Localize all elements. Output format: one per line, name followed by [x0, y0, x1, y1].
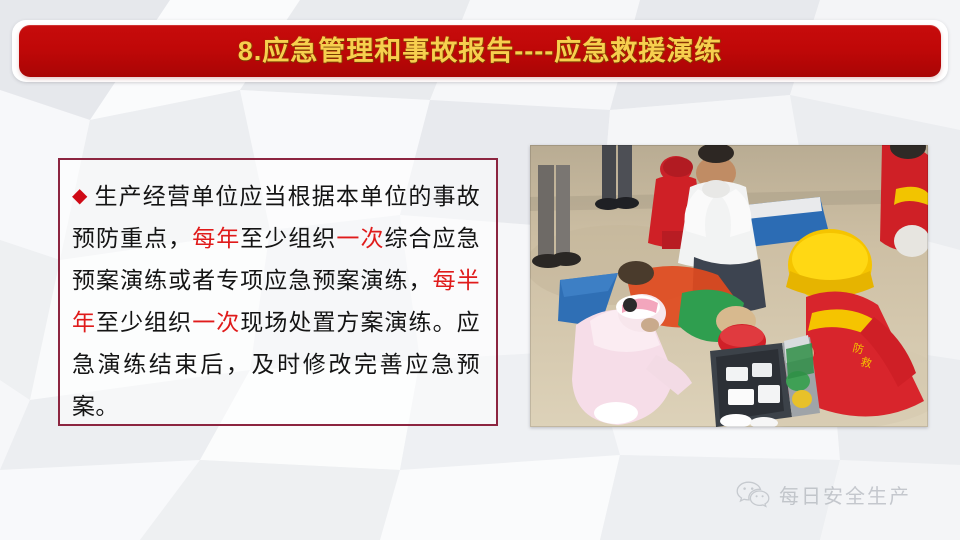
para-segment-1-highlight: 每年	[192, 226, 240, 252]
title-banner: 8.应急管理和事故报告----应急救援演练	[19, 25, 941, 77]
watermark-text: 每日安全生产	[779, 480, 911, 509]
photo-illustration: 防 救	[530, 145, 928, 427]
slide-root: 8.应急管理和事故报告----应急救援演练 ◆生产经营单位应当根据本单位的事故预…	[0, 0, 960, 540]
para-segment-3-highlight: 一次	[336, 226, 384, 252]
page-title: 8.应急管理和事故报告----应急救援演练	[238, 38, 722, 65]
emergency-drill-photo: 防 救	[530, 145, 928, 427]
wechat-icon	[736, 481, 770, 509]
para-segment-2: 至少组织	[240, 226, 336, 252]
para-segment-7-highlight: 一次	[192, 310, 240, 336]
diamond-bullet-icon: ◆	[72, 183, 89, 207]
watermark: 每日安全生产	[736, 480, 911, 509]
bullet-paragraph: ◆生产经营单位应当根据本单位的事故预防重点，每年至少组织一次综合应急预案演练或者…	[72, 174, 480, 428]
content-text-box: ◆生产经营单位应当根据本单位的事故预防重点，每年至少组织一次综合应急预案演练或者…	[58, 158, 498, 426]
para-segment-6: 至少组织	[96, 310, 192, 336]
